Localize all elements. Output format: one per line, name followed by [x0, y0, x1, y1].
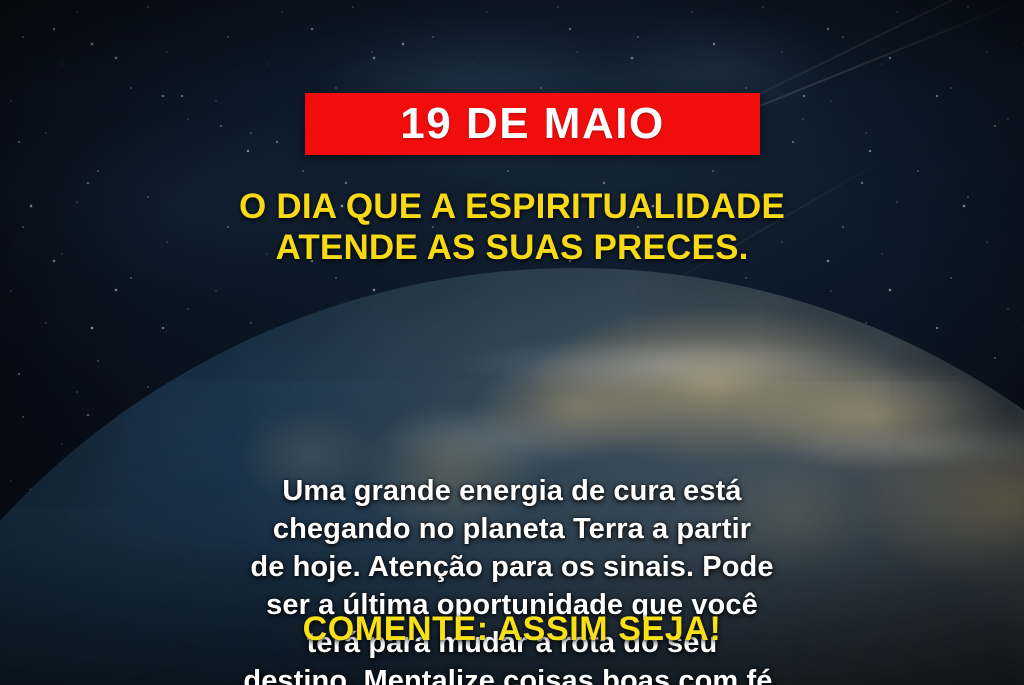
body-copy-line-1: Uma grande energia de cura está — [0, 473, 1024, 511]
poster-canvas: 19 DE MAIO O DIA QUE A ESPIRITUALIDADE A… — [0, 0, 1024, 685]
headline: O DIA QUE A ESPIRITUALIDADE ATENDE AS SU… — [0, 187, 1024, 268]
body-copy: Uma grande energia de cura está chegando… — [0, 473, 1024, 685]
date-banner: 19 DE MAIO — [305, 93, 760, 155]
headline-line-2: ATENDE AS SUAS PRECES. — [0, 228, 1024, 269]
headline-line-1: O DIA QUE A ESPIRITUALIDADE — [0, 187, 1024, 228]
call-to-action: COMENTE: ASSIM SEJA! — [0, 612, 1024, 646]
date-banner-label: 19 DE MAIO — [400, 102, 664, 146]
body-copy-line-3: de hoje. Atenção para os sinais. Pode — [0, 549, 1024, 587]
body-copy-line-2: chegando no planeta Terra a partir — [0, 511, 1024, 549]
body-copy-line-6: destino. Mentalize coisas boas com fé. — [0, 663, 1024, 685]
poster-content: 19 DE MAIO O DIA QUE A ESPIRITUALIDADE A… — [0, 0, 1024, 685]
